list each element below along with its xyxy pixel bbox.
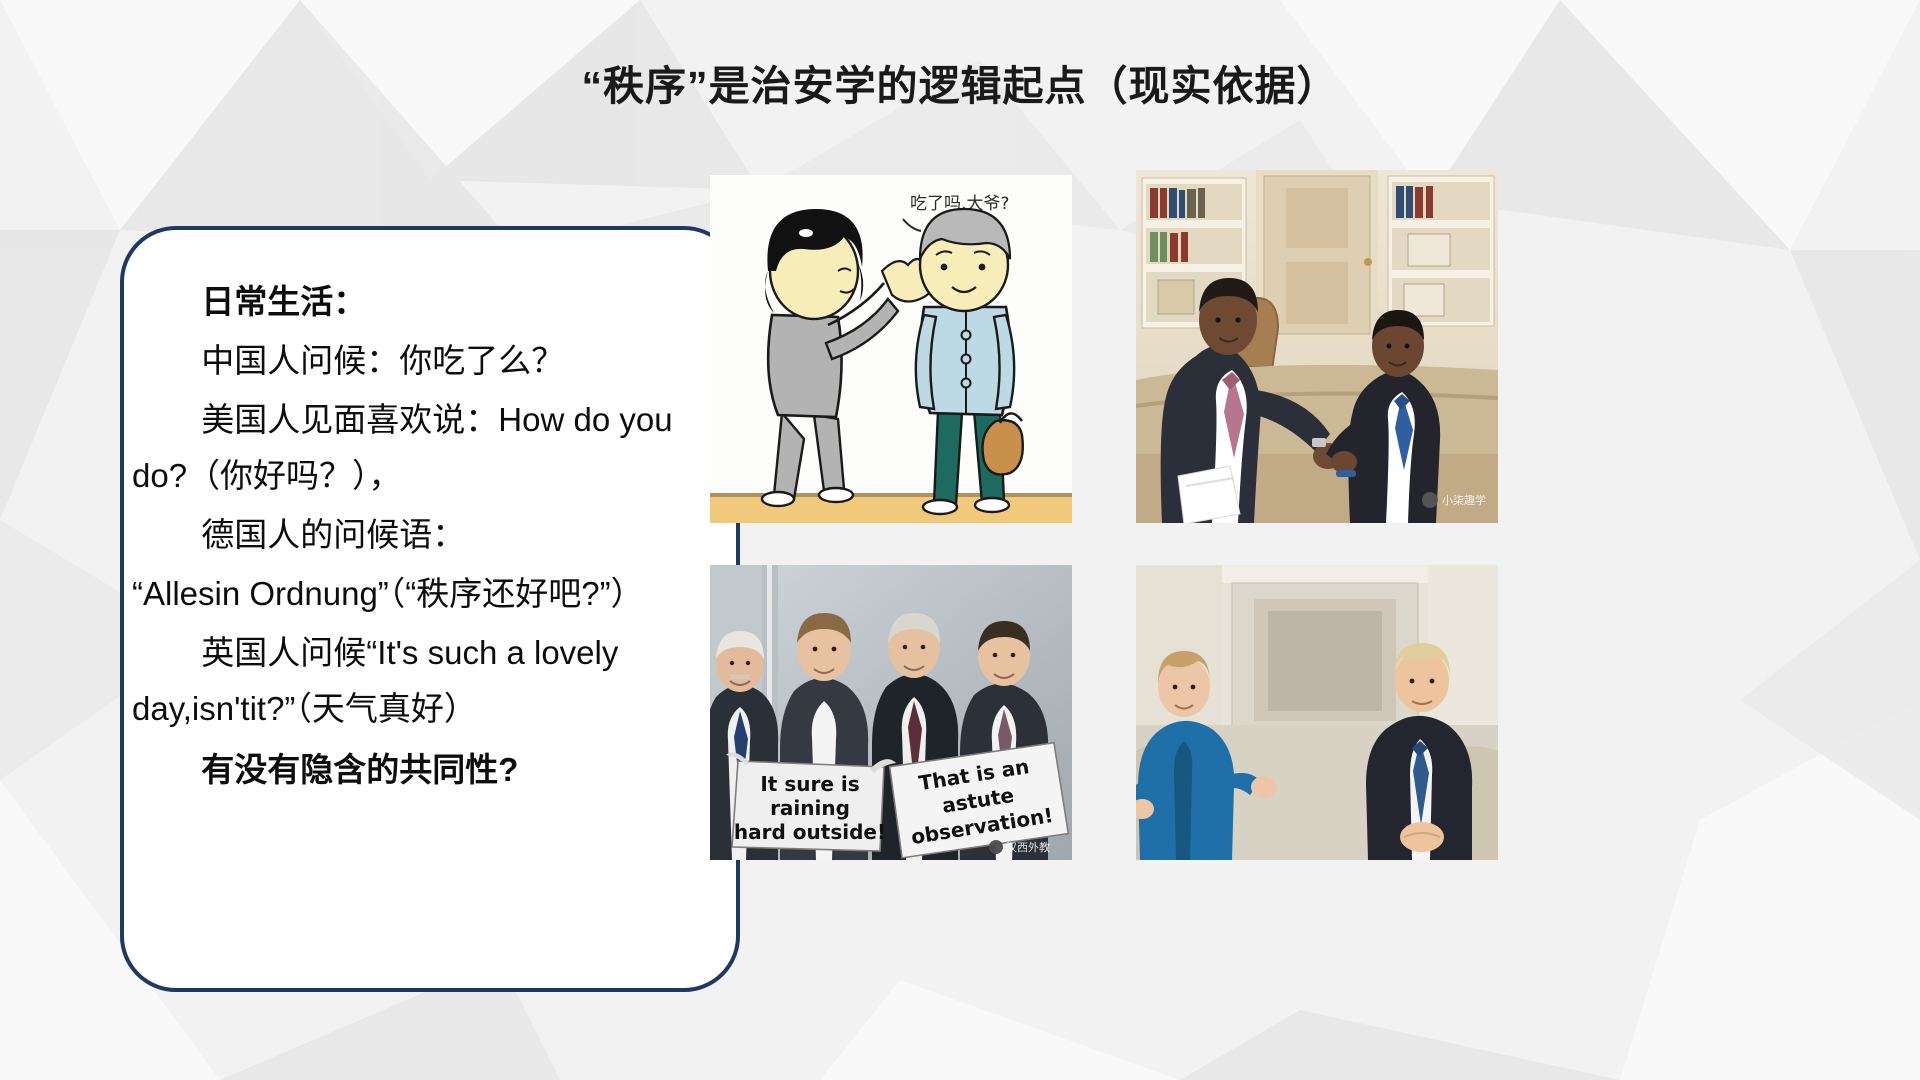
speech-bubble-left: It sure is raining hard outside! (726, 752, 896, 851)
greeting-line-british: 英国人问候“It's such a lovely day,isn'tit?”（天… (132, 625, 718, 739)
greeting-line-german-phrase: “Allesin Ordnung”（“秩序还好吧?”） (132, 566, 718, 623)
elevator-small-talk-photo: It sure is raining hard outside! That is… (710, 565, 1072, 860)
textbox-heading: 日常生活： (132, 274, 718, 331)
greeting-line-german-label: 德国人的问候语： (132, 507, 718, 564)
obama-photo-watermark: 小柒趣学 (1442, 493, 1486, 507)
page-title: “秩序”是治安学的逻辑起点（现实依据） (0, 52, 1920, 112)
bubbles-photo-watermark: 汉西外教 (1006, 841, 1050, 854)
greeting-line-chinese: 中国人问候：你吃了么？ (132, 333, 718, 390)
obama-fist-bump-photo: 小柒趣学 (1136, 170, 1498, 523)
chinese-greeting-cartoon: 吃了吗,大爷? 吃啦! (710, 175, 1072, 523)
merkel-trump-photo (1136, 565, 1498, 860)
greeting-line-american: 美国人见面喜欢说：How do you do?（你好吗？）， (132, 392, 718, 506)
bubble-left-line1: It sure is (760, 772, 859, 796)
bubble-left-line3: hard outside! (734, 820, 886, 844)
textbox-conclusion: 有没有隐含的共同性? (132, 742, 718, 799)
daily-life-textbox: 日常生活： 中国人问候：你吃了么？ 美国人见面喜欢说：How do you do… (120, 226, 740, 992)
daily-life-text-content: 日常生活： 中国人问候：你吃了么？ 美国人见面喜欢说：How do you do… (132, 274, 718, 801)
bubble-left-line2: raining (770, 796, 850, 820)
